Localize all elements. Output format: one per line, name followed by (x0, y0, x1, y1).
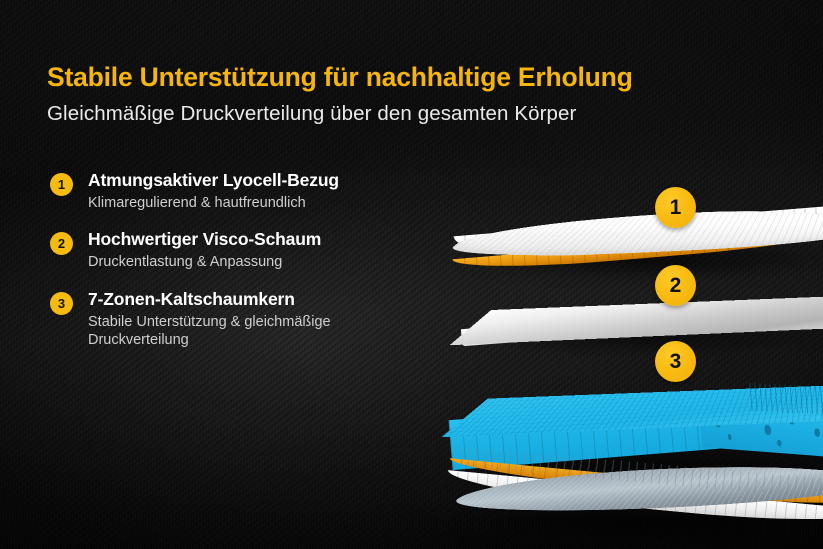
feature-badge-2: 2 (50, 232, 73, 255)
diagram-badge-2: 2 (655, 265, 696, 306)
feature-badge-1: 1 (50, 173, 73, 196)
feature-badge-3: 3 (50, 292, 73, 315)
feature-title-2: Hochwertiger Visco-Schaum (88, 229, 450, 251)
feature-subtitle-2: Druckentlastung & Anpassung (88, 253, 398, 272)
base-layer (438, 412, 823, 549)
diagram-badge-3: 3 (655, 341, 696, 382)
mattress-infographic: Stabile Unterstützung für nachhaltige Er… (0, 0, 823, 549)
feature-title-1: Atmungsaktiver Lyocell-Bezug (88, 170, 450, 192)
diagram-badge-1: 1 (655, 187, 696, 228)
list-item: 1 Atmungsaktiver Lyocell-Bezug Klimaregu… (50, 170, 450, 212)
feature-list: 1 Atmungsaktiver Lyocell-Bezug Klimaregu… (50, 170, 450, 367)
list-item: 2 Hochwertiger Visco-Schaum Druckentlast… (50, 229, 450, 271)
list-item: 3 7-Zonen-Kaltschaumkern Stabile Unterst… (50, 289, 450, 350)
feature-subtitle-1: Klimaregulierend & hautfreundlich (88, 194, 398, 213)
feature-title-3: 7-Zonen-Kaltschaumkern (88, 289, 450, 311)
exploded-mattress-diagram (418, 150, 823, 549)
feature-subtitle-3: Stabile Unterstützung & gleichmäßige Dru… (88, 313, 398, 350)
page-subtitle: Gleichmäßige Druckverteilung über den ge… (47, 102, 576, 126)
page-title: Stabile Unterstützung für nachhaltige Er… (47, 62, 633, 93)
